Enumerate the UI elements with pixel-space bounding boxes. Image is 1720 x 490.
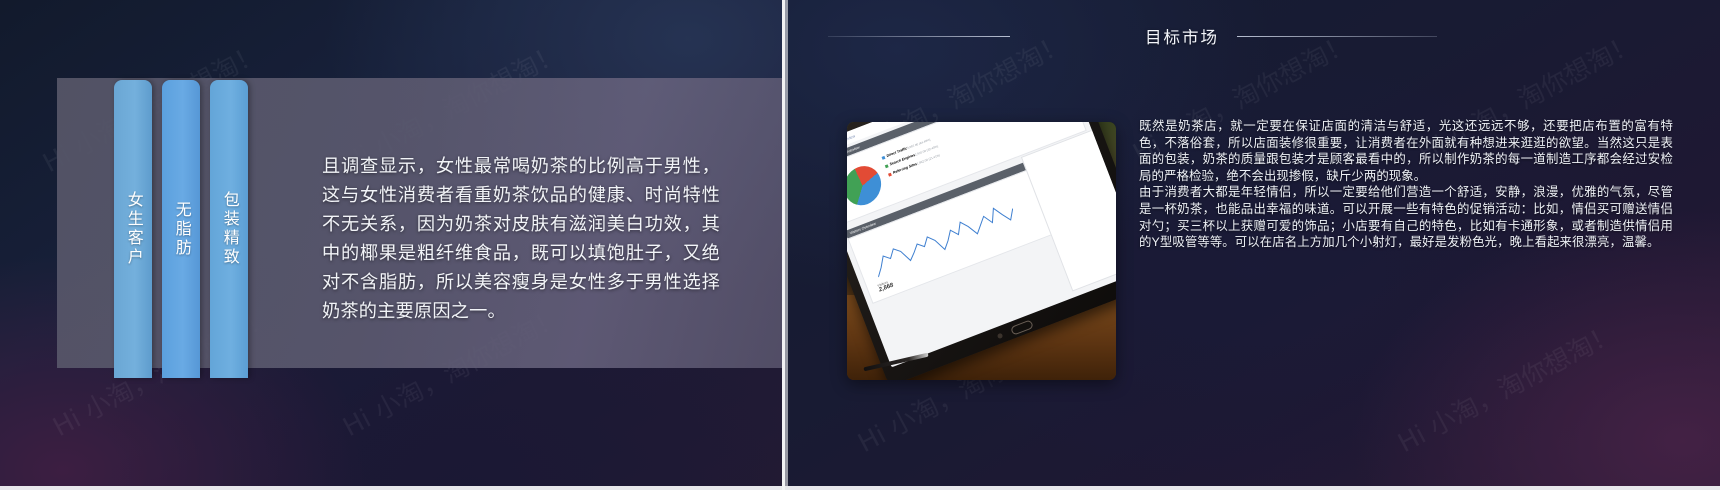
vertical-tab-label: 女生客户 [124,191,142,267]
slide-bottom-bar [0,486,782,490]
slide-deck-two-up: Hi 小淘，淘你想淘！ Hi 小淘，淘你想淘！ Hi 小淘，淘你想淘！ Hi 小… [0,0,1720,490]
left-body-text: 且调查显示，女性最常喝奶茶的比例高于男性，这与女性消费者看重奶茶饮品的健康、时尚… [322,152,720,326]
pie-chart [847,161,885,211]
vertical-tab-group: 女生客户 无脂肪 包装精致 [114,0,314,490]
title-rule-right [1237,36,1437,37]
page-title: 目标市场 [1145,24,1219,48]
tablet-dashboard-photo: analytics 3.32 Pageview Traffic Sources … [847,122,1116,380]
page-title-row: 目标市场 [785,22,1720,50]
sparkline-chart [868,195,1021,282]
legend-swatch-icon [888,172,892,176]
left-slide: Hi 小淘，淘你想淘！ Hi 小淘，淘你想淘！ Hi 小淘，淘你想淘！ Hi 小… [0,0,782,490]
paragraph: 既然是奶茶店，就一定要在保证店面的清洁与舒适，光这还远远不够，还要把店布置的富有… [1139,118,1673,184]
vertical-tab-label: 无脂肪 [172,201,190,258]
right-body-text: 既然是奶茶店，就一定要在保证店面的清洁与舒适，光这还远远不够，还要把店布置的富有… [1139,118,1673,251]
pie-legend: Direct Traffic 3,087.00 (44.40%) Search … [881,136,944,182]
slide-left-rail [785,0,788,490]
slide-bottom-bar [785,486,1720,490]
paragraph: 由于消费者大都是年轻情侣，所以一定要给他们营造一个舒适，安静，浪漫，优雅的气氛，… [1139,184,1673,250]
camera-icon [997,333,1003,339]
watermark: Hi 小淘，淘你想淘！ [1391,313,1623,460]
right-slide: Hi 小淘，淘你想淘！ Hi 小淘，淘你想淘！ Hi 小淘，淘你想淘！ Hi 小… [785,0,1720,490]
vertical-tab-label: 包装精致 [220,191,238,267]
title-rule-left [828,36,1010,37]
sidebar-item-female-customers[interactable]: 女生客户 [114,80,152,378]
legend-swatch-icon [885,164,889,168]
sidebar-item-fine-packaging[interactable]: 包装精致 [210,80,248,378]
sidebar-item-fat-free[interactable]: 无脂肪 [162,80,200,378]
legend-swatch-icon [881,155,885,159]
